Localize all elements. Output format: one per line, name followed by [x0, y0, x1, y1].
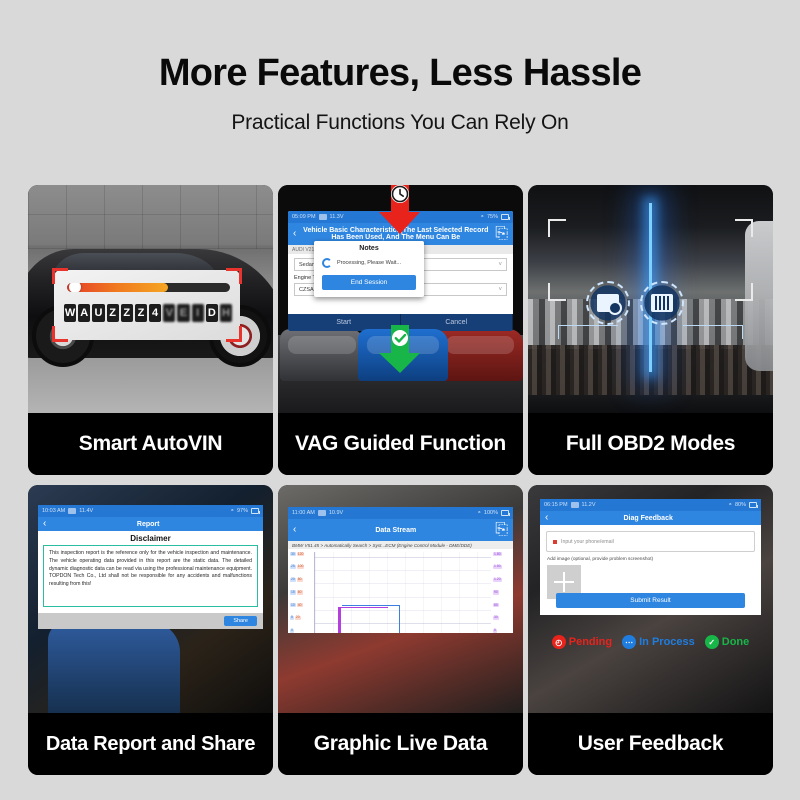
red-down-arrow-icon [374, 185, 426, 236]
autovin-artwork: W A U Z Z Z 4 V E I D H [28, 185, 273, 413]
notes-message: Processing, Please Wait... [337, 260, 401, 266]
chart-axis-left: 30 120 25 100 20 80 [290, 552, 314, 633]
chevron-down-icon: ˅ [498, 287, 502, 293]
exit-icon[interactable]: ⎘ [495, 225, 508, 243]
scan-corner-top-right [226, 268, 242, 284]
vin-char: Z [121, 304, 133, 322]
status-bar-left: 10:03 AM 11.4V [42, 508, 93, 514]
wifi-icon: ◓ [231, 508, 234, 514]
green-down-arrow-icon [374, 325, 426, 375]
status-badge-label: Done [722, 636, 750, 648]
axis-tick-right: 60 [493, 603, 499, 607]
nav-bar: ‹ Diag Feedback [540, 511, 761, 525]
vin-char: Z [135, 304, 147, 322]
vin-char: 4 [149, 304, 161, 322]
loading-spinner-icon [322, 258, 332, 268]
status-time: 05:09 PM [292, 214, 316, 220]
status-bar-right: ◓ 97% [231, 508, 259, 514]
circuit-trace-left [558, 325, 618, 339]
status-voltage: 10.9V [329, 510, 343, 516]
chevron-down-icon: ˅ [498, 262, 502, 268]
signal-icon [318, 510, 326, 516]
required-marker-icon [553, 540, 557, 544]
axis-tick-left-blue: 5 [290, 616, 294, 620]
battery-icon [501, 510, 509, 516]
document-search-glyph [597, 294, 619, 312]
vin-scan-progress [67, 283, 230, 292]
signal-icon [319, 214, 327, 220]
contact-field-wrap: Input your phone/email [540, 525, 761, 552]
status-time: 10:03 AM [42, 508, 65, 514]
axis-tick-left-blue: 10 [290, 603, 296, 607]
report-artwork: 10:03 AM 11.4V ◓ 97% ‹ Report [28, 485, 273, 713]
status-badge-label: Pending [569, 636, 612, 648]
car-mercedes-red [437, 329, 523, 381]
status-bar: 10:03 AM 11.4V ◓ 97% [38, 505, 263, 517]
axis-tick-right: 90 [493, 590, 499, 594]
body-type-value: Sedan [299, 262, 315, 268]
signal-icon [571, 502, 579, 508]
vin-scan-panel: W A U Z Z Z 4 V E I D H [54, 270, 240, 340]
wifi-icon: ◓ [478, 510, 481, 516]
status-badge-in-process: ⋯ In Process [622, 635, 695, 649]
add-image-label: Add image (optional, provide problem scr… [540, 552, 761, 565]
submit-result-button[interactable]: Submit Result [556, 593, 745, 608]
card-data-report-and-share[interactable]: 10:03 AM 11.4V ◓ 97% ‹ Report [28, 485, 273, 775]
status-battery: 80% [735, 502, 746, 508]
status-battery: 75% [487, 214, 498, 220]
vin-char: D [206, 304, 218, 322]
card-caption: Graphic Live Data [278, 713, 523, 775]
wifi-icon: ◓ [481, 214, 484, 220]
vin-progress-fill [67, 283, 168, 292]
disclaimer-title: Disclaimer [38, 531, 263, 545]
status-bar-right: ◓ 75% [481, 214, 509, 220]
card-smart-autovin[interactable]: W A U Z Z Z 4 V E I D H Smart AutoV [28, 185, 273, 475]
status-voltage: 11.2V [582, 502, 596, 508]
axis-tick-right: 1.80 [493, 552, 502, 556]
status-bar-left: 05:09 PM 11.3V [292, 214, 344, 220]
status-battery: 97% [237, 508, 248, 514]
vin-char: U [92, 304, 104, 322]
report-footer: Share [38, 613, 263, 629]
obd2-artwork [528, 185, 773, 413]
report-tablet-screen: 10:03 AM 11.4V ◓ 97% ‹ Report [38, 505, 263, 629]
circuit-trace-right [683, 325, 743, 339]
signal-icon [68, 508, 76, 514]
card-caption: User Feedback [528, 713, 773, 775]
gear-scan-icon [586, 281, 630, 325]
status-time: 11:00 AM [292, 510, 315, 516]
axis-tick-left-orange: 120 [297, 552, 305, 556]
page-root: More Features, Less Hassle Practical Fun… [0, 0, 800, 800]
status-bar-right: ◓ 100% [478, 510, 509, 516]
nav-bar: ‹ Report [38, 517, 263, 531]
contact-input[interactable]: Input your phone/email [546, 531, 755, 552]
frame-corner-top-left [548, 219, 566, 237]
check-icon: ✓ [705, 635, 719, 649]
nav-title: Report [46, 521, 250, 528]
vin-character-strip: W A U Z Z Z 4 V E I D H [64, 304, 232, 322]
status-bar-left: 11:00 AM 10.9V [292, 510, 343, 516]
scan-corner-bottom-right [226, 326, 242, 342]
axis-tick-left-orange: 40 [297, 603, 303, 607]
notes-dialog-title: Notes [314, 241, 424, 255]
nav-bar: ‹ Data Stream ⎘ [288, 519, 513, 541]
status-badge-done: ✓ Done [705, 635, 750, 649]
nav-title: Data Stream [296, 527, 495, 534]
vin-char: Z [107, 304, 119, 322]
breadcrumb: BMW V51.45 > Automatically Search > Syst… [288, 541, 513, 549]
card-full-obd2-modes[interactable]: Full OBD2 Modes [528, 185, 773, 475]
clock-icon: ◴ [552, 635, 566, 649]
chart-series-blue [342, 605, 400, 633]
status-badges: ◴ Pending ⋯ In Process ✓ Done [528, 635, 773, 649]
status-badge-pending: ◴ Pending [552, 635, 612, 649]
status-bar: 11:00 AM 10.9V ◓ 100% [288, 507, 513, 519]
battery-icon [749, 502, 757, 508]
status-bar: 06:15 PM 11.2V ◓ 80% [540, 499, 761, 511]
status-bar-right: ◓ 80% [729, 502, 757, 508]
live-data-chart: 30 120 25 100 20 80 [288, 549, 513, 633]
axis-tick-left-blue: 25 [290, 565, 296, 569]
car-audi-gray [280, 329, 364, 381]
feedback-artwork: 06:15 PM 11.2V ◓ 80% ‹ Diag Feedback [528, 485, 773, 713]
live-data-artwork: 11:00 AM 10.9V ◓ 100% ‹ Data Stream [278, 485, 523, 713]
wifi-icon: ◓ [729, 502, 732, 508]
vin-char: A [78, 304, 90, 322]
scan-corner-top-left [52, 268, 68, 284]
card-graphic-live-data[interactable]: 11:00 AM 10.9V ◓ 100% ‹ Data Stream [278, 485, 523, 775]
status-time: 06:15 PM [544, 502, 568, 508]
frame-corner-bottom-left [548, 283, 566, 301]
battery-icon [501, 214, 509, 220]
page-header: More Features, Less Hassle Practical Fun… [0, 0, 800, 135]
card-caption: Data Report and Share [28, 713, 273, 775]
axis-tick-right: 1.50 [493, 565, 502, 569]
vin-char: E [177, 304, 189, 322]
card-caption: Full OBD2 Modes [528, 413, 773, 475]
vin-char: V [163, 304, 175, 322]
axis-tick-right: 0 [493, 629, 497, 633]
card-vag-guided-function[interactable]: 05:09 PM 11.3V ◓ 75% ‹ Vehicle Basic Cha… [278, 185, 523, 475]
axis-tick-left-orange: 60 [297, 590, 303, 594]
feedback-tablet-screen: 06:15 PM 11.2V ◓ 80% ‹ Diag Feedback [540, 499, 761, 615]
gear-chip-icon [640, 281, 684, 325]
vin-char: I [192, 304, 204, 322]
axis-tick-left-blue: 20 [290, 578, 296, 582]
card-caption: VAG Guided Function [278, 413, 523, 475]
frame-corner-top-right [735, 219, 753, 237]
status-battery: 100% [484, 510, 498, 516]
battery-icon [251, 508, 259, 514]
axis-tick-left-orange: 80 [297, 578, 303, 582]
nav-title: Diag Feedback [548, 515, 748, 522]
axis-tick-right: 30 [493, 616, 499, 620]
share-button[interactable]: Share [224, 616, 257, 626]
contact-input-placeholder: Input your phone/email [561, 539, 614, 545]
status-badge-label: In Process [639, 636, 695, 648]
end-session-button[interactable]: End Session [322, 275, 416, 290]
axis-tick-left-blue: 30 [290, 552, 296, 556]
data-stream-tablet-screen: 11:00 AM 10.9V ◓ 100% ‹ Data Stream [288, 507, 513, 633]
status-voltage: 11.3V [330, 214, 344, 220]
scan-corner-bottom-left [52, 326, 68, 342]
card-caption: Smart AutoVIN [28, 413, 273, 475]
page-subtitle: Practical Functions You Can Rely On [0, 111, 800, 135]
card-user-feedback[interactable]: 06:15 PM 11.2V ◓ 80% ‹ Diag Feedback [528, 485, 773, 775]
axis-tick-left-orange: 100 [297, 565, 305, 569]
axis-tick-left-orange: 20 [295, 616, 301, 620]
page-title: More Features, Less Hassle [0, 52, 800, 95]
chip-glyph [651, 294, 673, 312]
axis-tick-left-blue: 0 [290, 629, 294, 633]
notes-dialog: Notes Processing, Please Wait... End Ses… [314, 241, 424, 297]
status-bar-left: 06:15 PM 11.2V [544, 502, 596, 508]
vag-artwork: 05:09 PM 11.3V ◓ 75% ‹ Vehicle Basic Cha… [278, 185, 523, 413]
notes-dialog-body: Processing, Please Wait... [314, 255, 424, 275]
vin-progress-knob [69, 283, 81, 292]
axis-tick-right: 1.20 [493, 578, 502, 582]
chart-axis-right: 1.80 1.50 1.20 90 [493, 552, 513, 633]
vin-char: W [64, 304, 76, 322]
dots-icon: ⋯ [622, 635, 636, 649]
vin-char: H [220, 304, 232, 322]
frame-corner-bottom-right [735, 283, 753, 301]
axis-tick-left-blue: 15 [290, 590, 296, 594]
disclaimer-body: This inspection report is the reference … [43, 545, 258, 607]
feature-card-grid: W A U Z Z Z 4 V E I D H Smart AutoV [28, 185, 773, 775]
status-voltage: 11.4V [79, 508, 93, 514]
exit-icon[interactable]: ⎘ [495, 521, 508, 539]
